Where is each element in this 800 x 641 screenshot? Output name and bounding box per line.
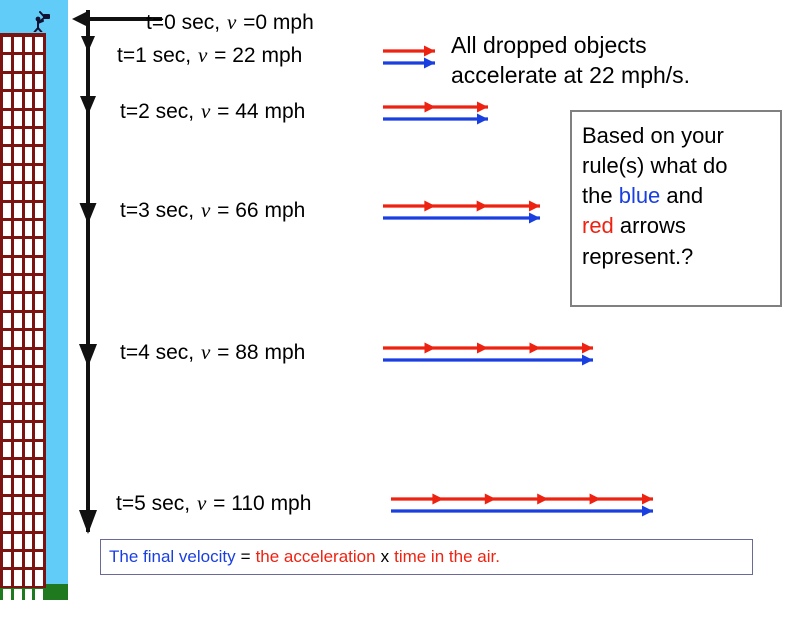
drop-marker-4 [79, 344, 97, 367]
building-window [3, 129, 11, 144]
building-window [35, 111, 43, 126]
caption-equals: = [241, 547, 251, 567]
building-window [14, 203, 22, 218]
acceleration-arrow-red-t5 [391, 494, 653, 505]
building-window [35, 74, 43, 89]
building-window [25, 331, 33, 346]
building-window [14, 423, 22, 438]
arrowhead [425, 102, 436, 113]
drop-marker-2 [80, 96, 96, 115]
building-window [3, 589, 11, 604]
building-window [14, 497, 22, 512]
caption-final-velocity: The final velocity [109, 547, 236, 567]
question-line-3: the blue and [582, 181, 780, 211]
building-window [14, 534, 22, 549]
caption-acceleration: the acceleration [256, 547, 376, 567]
arrowhead [485, 494, 496, 505]
row-t5-time: t=5 sec, [116, 492, 190, 515]
row-t4-v-symbol: v [200, 340, 211, 364]
building-window [25, 460, 33, 475]
building-window [25, 129, 33, 144]
building-window [35, 497, 43, 512]
building-window [25, 221, 33, 236]
acceleration-arrow-red-t3 [383, 201, 540, 212]
building-window [3, 607, 11, 622]
building-window [14, 147, 22, 162]
building-window [3, 239, 11, 254]
row-t4-velocity: = 88 mph [217, 341, 305, 364]
row-t0-v-symbol: v [226, 10, 237, 34]
arrow-pair-t5 [391, 491, 657, 517]
building-window [14, 294, 22, 309]
row-t1: t=1 sec, v = 22 mph [117, 45, 302, 66]
row-t0-velocity: =0 mph [243, 11, 314, 34]
arrowhead [642, 506, 653, 517]
building-window [14, 515, 22, 530]
drop-marker-3 [80, 203, 97, 224]
building-window [35, 184, 43, 199]
building-window [25, 203, 33, 218]
building-window [14, 442, 22, 457]
building-window [3, 294, 11, 309]
building-window [25, 570, 33, 585]
building-window [3, 111, 11, 126]
building-window [3, 350, 11, 365]
building-window [35, 589, 43, 604]
building-window [35, 607, 43, 622]
building-window [25, 239, 33, 254]
question-line-1: Based on your [582, 121, 780, 151]
building-window [35, 460, 43, 475]
building-window [35, 55, 43, 70]
building-window [3, 166, 11, 181]
building-window [14, 626, 22, 641]
building-window [3, 276, 11, 291]
building-window [35, 368, 43, 383]
building-window [3, 221, 11, 236]
building-window [14, 276, 22, 291]
building-window [35, 442, 43, 457]
arrow-pair-t1 [383, 43, 439, 69]
velocity-arrow-blue-t1 [383, 58, 435, 69]
building-window [3, 203, 11, 218]
arrowhead [529, 201, 540, 212]
question-red-word: red [582, 213, 614, 238]
building-window [35, 37, 43, 52]
building-window [35, 386, 43, 401]
building-window [14, 405, 22, 420]
row-t5-v-symbol: v [196, 491, 207, 515]
building-window [25, 405, 33, 420]
summary-caption: The final velocity=the accelerationxtime… [100, 539, 753, 575]
building-window [25, 552, 33, 567]
velocity-acceleration-arrows-t2 [383, 99, 492, 125]
building-window [3, 258, 11, 273]
building-window [25, 166, 33, 181]
row-t1-time: t=1 sec, [117, 44, 191, 67]
building-window [25, 350, 33, 365]
building-window [25, 515, 33, 530]
building-window [35, 350, 43, 365]
row-t3-v-symbol: v [200, 198, 211, 222]
building-window [3, 534, 11, 549]
building-window [3, 313, 11, 328]
row-t5-velocity: = 110 mph [213, 492, 311, 515]
row-t4-time: t=4 sec, [120, 341, 194, 364]
building-window [14, 258, 22, 273]
building-window [14, 386, 22, 401]
building-window [25, 74, 33, 89]
building-window [14, 37, 22, 52]
building-window [14, 111, 22, 126]
arrow-pair-t3 [383, 198, 544, 224]
building-window [25, 92, 33, 107]
slide-canvas: t=0 sec, v =0 mph t=1 sec, v = 22 mph t=… [0, 0, 800, 600]
question-box: Based on your rule(s) what do the blue a… [570, 110, 782, 307]
arrow-pair-t2 [383, 99, 492, 125]
building-window [35, 294, 43, 309]
building-window [3, 626, 11, 641]
building-window [25, 423, 33, 438]
building-window [3, 478, 11, 493]
building-window [35, 552, 43, 567]
drop-marker-1 [81, 36, 95, 52]
velocity-arrow-blue-t3 [383, 213, 540, 224]
velocity-acceleration-arrows-t5 [391, 491, 657, 517]
velocity-arrow-blue-t2 [383, 114, 488, 125]
building-window [3, 37, 11, 52]
building-window [14, 552, 22, 567]
arrowhead [432, 494, 443, 505]
velocity-acceleration-arrows-t4 [383, 340, 597, 366]
acceleration-arrow-red-t2 [383, 102, 488, 113]
question-line-4: red arrows [582, 211, 780, 241]
building-window [35, 478, 43, 493]
building-window [35, 626, 43, 641]
building-window [14, 331, 22, 346]
building-window [25, 276, 33, 291]
row-t1-v-symbol: v [197, 43, 208, 67]
building-window [3, 368, 11, 383]
building-window [14, 184, 22, 199]
building-window [35, 331, 43, 346]
building-window [14, 478, 22, 493]
arrowhead [425, 343, 436, 354]
building-window [35, 239, 43, 254]
building-window [35, 129, 43, 144]
arrowhead [477, 114, 488, 125]
building-window [3, 405, 11, 420]
building-window [25, 55, 33, 70]
building-window [25, 607, 33, 622]
arrowhead [582, 355, 593, 366]
building-window [25, 294, 33, 309]
row-t5: t=5 sec, v = 110 mph [116, 493, 311, 514]
building-window [35, 258, 43, 273]
building-window [14, 607, 22, 622]
building-window [3, 147, 11, 162]
arrowhead [529, 213, 540, 224]
row-t0: t=0 sec, v =0 mph [146, 12, 314, 33]
arrowhead [537, 494, 548, 505]
building-window [35, 405, 43, 420]
building-window [25, 497, 33, 512]
row-t3-velocity: = 66 mph [217, 199, 305, 222]
arrowhead [477, 343, 488, 354]
question-line-3-pre: the [582, 183, 619, 208]
building-window [35, 147, 43, 162]
callout-line-2: accelerate at 22 mph/s. [451, 60, 791, 90]
building-window [35, 221, 43, 236]
building-window [25, 184, 33, 199]
arrowhead [424, 201, 435, 212]
building-window [14, 129, 22, 144]
row-t4: t=4 sec, v = 88 mph [120, 342, 305, 363]
question-blue-word: blue [619, 183, 661, 208]
building-window [25, 258, 33, 273]
building-window [35, 423, 43, 438]
building-window [3, 74, 11, 89]
arrowhead [642, 494, 653, 505]
arrowhead [477, 201, 488, 212]
callout-line-1: All dropped objects [451, 30, 791, 60]
arrowhead [477, 102, 488, 113]
question-line-2: rule(s) what do [582, 151, 780, 181]
building-window [3, 55, 11, 70]
building-window [14, 350, 22, 365]
building-window [3, 515, 11, 530]
building-window [25, 313, 33, 328]
building-window [14, 570, 22, 585]
building-window [3, 442, 11, 457]
velocity-arrow-blue-t4 [383, 355, 593, 366]
building-window [14, 166, 22, 181]
building-window [14, 460, 22, 475]
building-window [3, 184, 11, 199]
building-window [35, 92, 43, 107]
row-t2: t=2 sec, v = 44 mph [120, 101, 305, 122]
building-window [25, 626, 33, 641]
row-t2-v-symbol: v [200, 99, 211, 123]
building-window [35, 515, 43, 530]
building-window [25, 111, 33, 126]
building-window [25, 147, 33, 162]
arrowhead [424, 58, 435, 69]
arrow-pair-t4 [383, 340, 597, 366]
building-window [25, 37, 33, 52]
row-t2-velocity: = 44 mph [217, 100, 305, 123]
building-window [35, 166, 43, 181]
question-line-3-post: and [660, 183, 703, 208]
question-line-4-post: arrows [614, 213, 686, 238]
building-window [14, 74, 22, 89]
building-window [3, 460, 11, 475]
building-window [3, 92, 11, 107]
drop-marker-5 [79, 510, 97, 534]
building-window [25, 368, 33, 383]
building-window [14, 589, 22, 604]
building-window [25, 478, 33, 493]
building-window [14, 368, 22, 383]
fall-distance-axis [74, 10, 104, 540]
acceleration-arrow-red-t4 [383, 343, 593, 354]
building-window [25, 386, 33, 401]
building-window [35, 313, 43, 328]
row-t0-time: t=0 sec, [146, 11, 220, 34]
building-window [3, 331, 11, 346]
building-window [35, 276, 43, 291]
building-window [14, 239, 22, 254]
building-tower [0, 33, 46, 588]
velocity-arrow-blue-t5 [391, 506, 653, 517]
row-t1-velocity: = 22 mph [214, 44, 302, 67]
building-window [14, 55, 22, 70]
arrowhead [590, 494, 601, 505]
arrowhead [424, 46, 435, 57]
building-window [35, 203, 43, 218]
building-window [25, 534, 33, 549]
building-window [14, 92, 22, 107]
person-on-roof-icon [31, 6, 53, 32]
building-window [3, 423, 11, 438]
row-t2-time: t=2 sec, [120, 100, 194, 123]
velocity-acceleration-arrows-t1 [383, 43, 439, 69]
acceleration-arrow-red-t1 [383, 46, 435, 57]
velocity-acceleration-arrows-t3 [383, 198, 544, 224]
arrowhead [582, 343, 593, 354]
caption-time-in-air: time in the air. [394, 547, 500, 567]
caption-times: x [381, 547, 390, 567]
building-window [25, 442, 33, 457]
building-window [3, 386, 11, 401]
row-t3: t=3 sec, v = 66 mph [120, 200, 305, 221]
building-window [35, 570, 43, 585]
arrowhead [530, 343, 541, 354]
row-t3-time: t=3 sec, [120, 199, 194, 222]
building-window [3, 570, 11, 585]
building-window [14, 221, 22, 236]
building-window [35, 534, 43, 549]
building-window [3, 552, 11, 567]
building-window [14, 313, 22, 328]
acceleration-callout: All dropped objects accelerate at 22 mph… [451, 30, 791, 91]
question-line-5: represent.? [582, 242, 780, 272]
building-window [25, 589, 33, 604]
building-window [3, 497, 11, 512]
